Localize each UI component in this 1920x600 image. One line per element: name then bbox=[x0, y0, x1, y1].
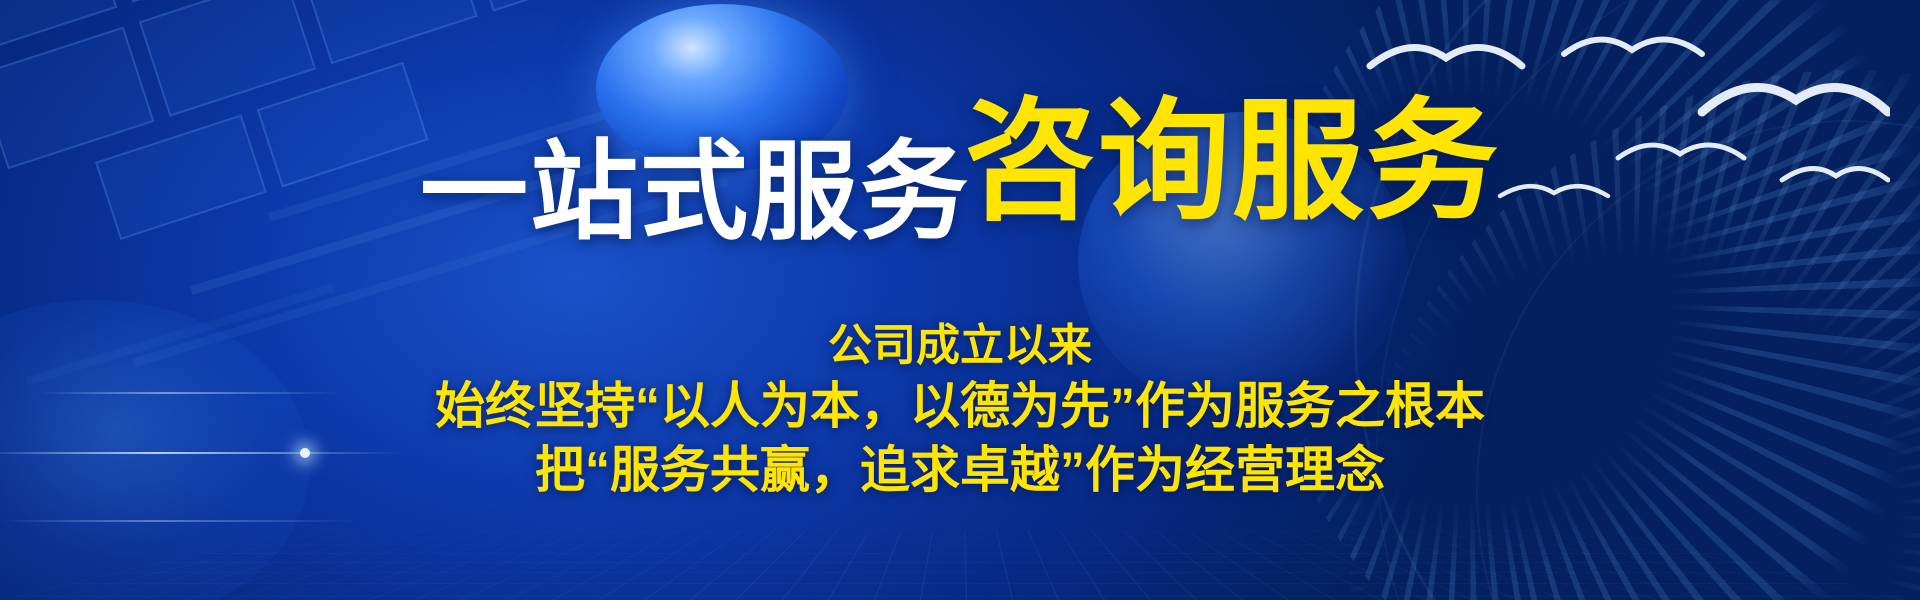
subtitle-line-2: 始终坚持“以人为本，以德为先”作为服务之根本 bbox=[0, 374, 1920, 438]
light-streak bbox=[0, 520, 360, 522]
headline-white-text: 一站式服务 bbox=[420, 138, 970, 246]
banner-subtitle: 公司成立以来 始终坚持“以人为本，以德为先”作为服务之根本 把“服务共赢，追求卓… bbox=[0, 318, 1920, 502]
banner-headline: 一站式服务 咨询服务 bbox=[0, 96, 1920, 228]
promo-banner: 一站式服务 咨询服务 公司成立以来 始终坚持“以人为本，以德为先”作为服务之根本… bbox=[0, 0, 1920, 600]
headline-yellow-text: 咨询服务 bbox=[964, 96, 1500, 228]
subtitle-line-1: 公司成立以来 bbox=[0, 318, 1920, 374]
perspective-grid bbox=[0, 530, 1920, 600]
subtitle-line-3: 把“服务共赢，追求卓越”作为经营理念 bbox=[0, 438, 1920, 502]
background-decoration bbox=[0, 0, 1920, 600]
